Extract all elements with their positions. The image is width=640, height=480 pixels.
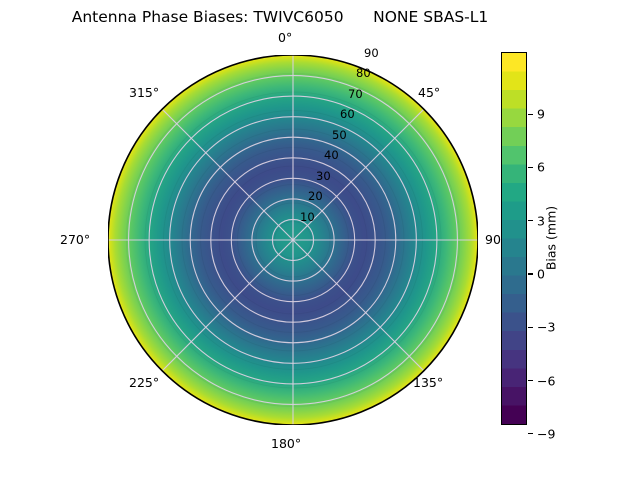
colorbar-label-m3: −3 xyxy=(537,320,555,335)
colorbar-tick-m6 xyxy=(528,380,533,381)
colorbar-tick-9 xyxy=(528,114,533,115)
r-label-60: 60 xyxy=(340,107,355,121)
r-label-20: 20 xyxy=(308,189,323,203)
theta-label-0: 0° xyxy=(278,30,292,45)
colorbar-gradient xyxy=(501,52,527,425)
colorbar-tick-0 xyxy=(528,273,533,274)
colorbar-tick-m9 xyxy=(528,433,533,434)
theta-label-180: 180° xyxy=(271,436,301,451)
r-label-10: 10 xyxy=(300,210,315,224)
colorbar-label-9: 9 xyxy=(537,107,545,122)
colorbar-tick-3 xyxy=(528,220,533,221)
theta-label-225: 225° xyxy=(129,375,159,390)
colorbar: 9 6 3 0 −3 −6 −9 xyxy=(501,52,527,425)
colorbar-label-m9: −9 xyxy=(537,426,555,441)
polar-plot-area: 0° 45° 90 135° 180° 225° 270° 315° 10 20… xyxy=(108,55,478,425)
figure-canvas: Antenna Phase Biases: TWIVC6050 NONE SBA… xyxy=(0,0,640,480)
theta-label-135: 135° xyxy=(413,375,443,390)
colorbar-tick-6 xyxy=(528,167,533,168)
theta-label-45: 45° xyxy=(418,85,440,100)
r-label-70: 70 xyxy=(348,87,363,101)
theta-label-315: 315° xyxy=(129,85,159,100)
polar-contour-svg xyxy=(108,55,478,425)
colorbar-label-6: 6 xyxy=(537,160,545,175)
colorbar-label-m6: −6 xyxy=(537,373,555,388)
theta-label-90: 90 xyxy=(485,232,501,247)
r-label-40: 40 xyxy=(324,148,339,162)
colorbar-tick-m3 xyxy=(528,327,533,328)
r-label-80: 80 xyxy=(356,66,371,80)
page-title: Antenna Phase Biases: TWIVC6050 NONE SBA… xyxy=(0,8,560,26)
theta-label-270: 270° xyxy=(60,232,90,247)
colorbar-axis-title: Bias (mm) xyxy=(544,206,559,270)
polar-angular-gridlines xyxy=(108,55,478,425)
r-label-90: 90 xyxy=(364,46,379,60)
r-label-50: 50 xyxy=(332,128,347,142)
r-label-30: 30 xyxy=(316,169,331,183)
